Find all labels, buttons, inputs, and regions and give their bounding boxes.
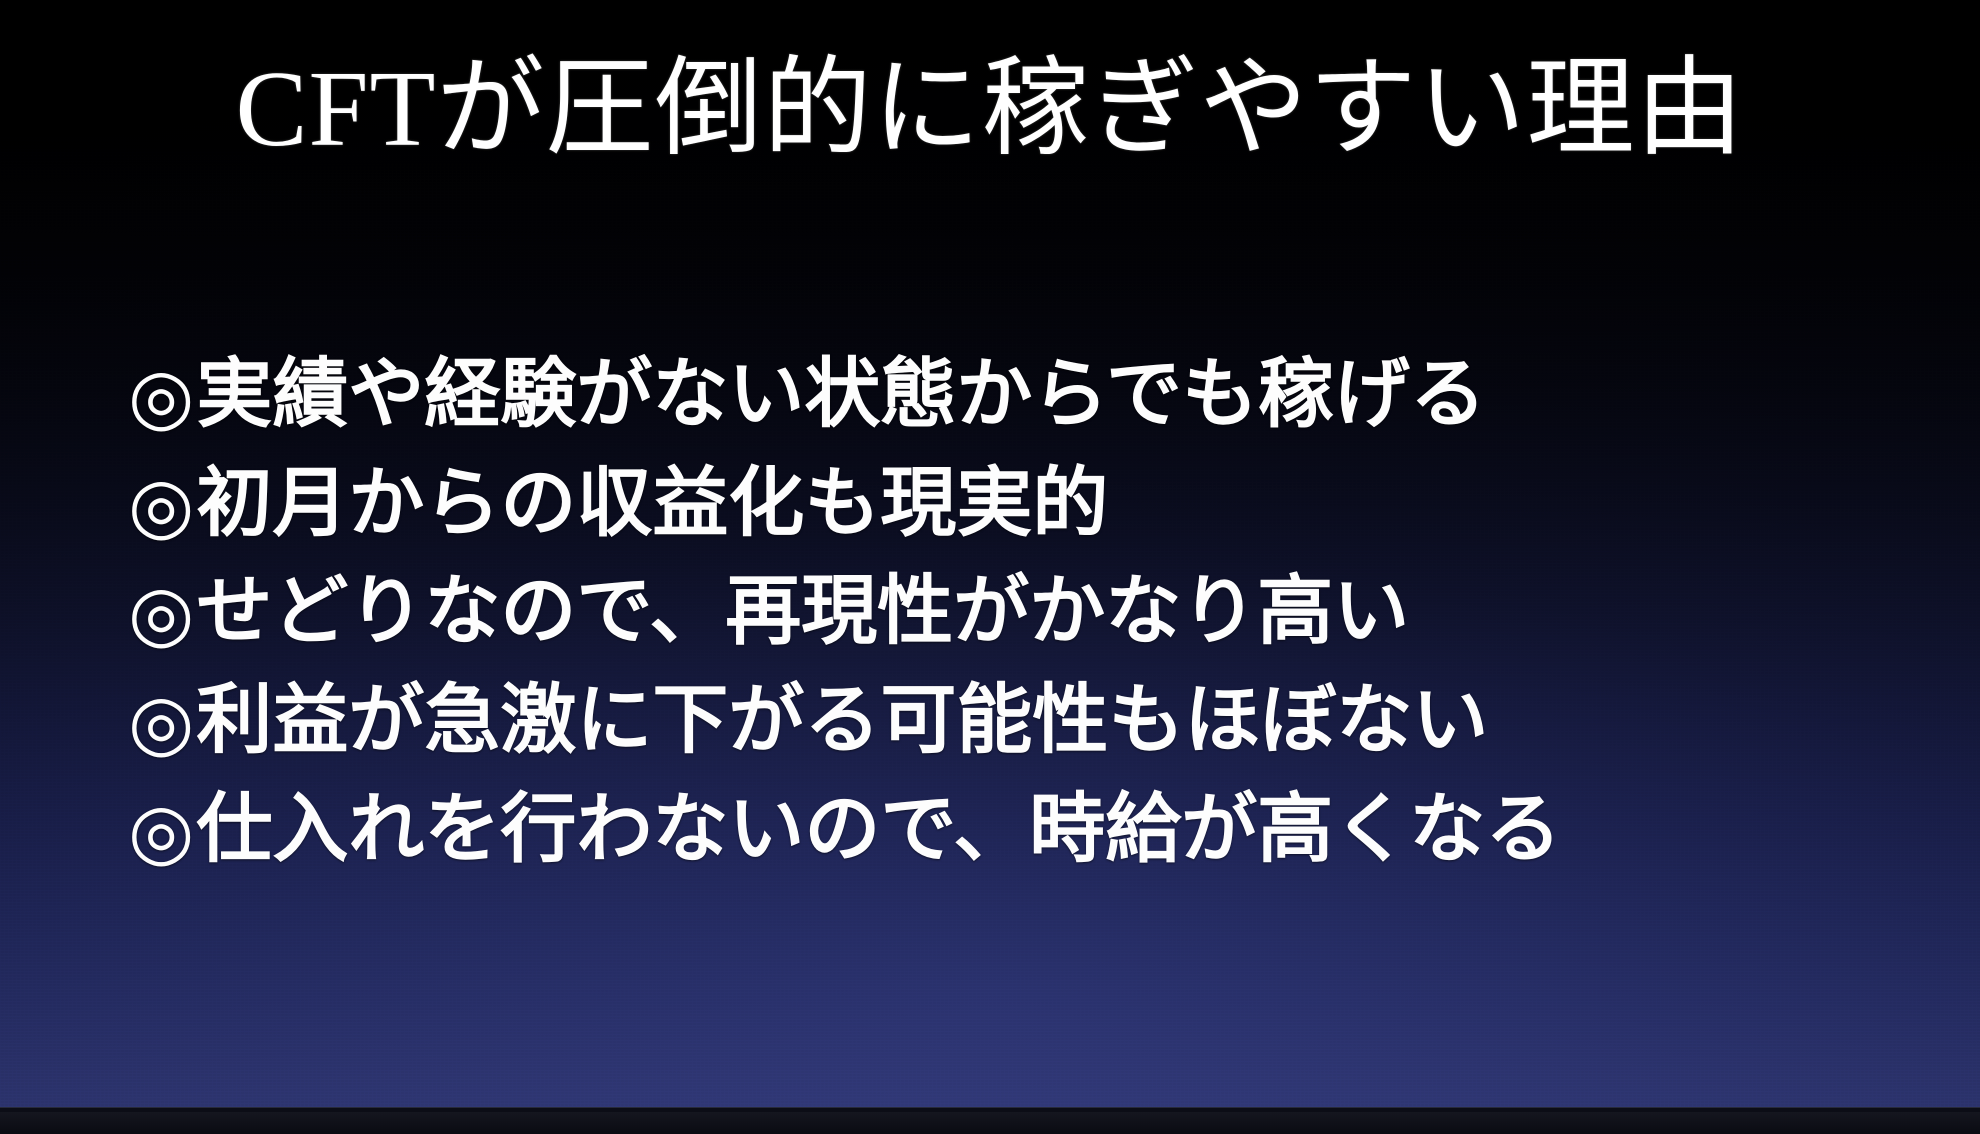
slide-content: CFTが圧倒的に稼ぎやすい理由 ◎ 実績や経験がない状態からでも稼げる ◎ 初月… bbox=[0, 0, 1980, 1134]
bullet-item: ◎ 仕入れを行わないので、時給が高くなる bbox=[128, 783, 1920, 876]
bullet-item-label: 実績や経験がない状態からでも稼げる bbox=[196, 348, 1486, 441]
bullseye-icon: ◎ bbox=[128, 575, 194, 651]
bullet-item: ◎ 利益が急激に下がる可能性もほぼない bbox=[128, 674, 1920, 767]
bullet-list: ◎ 実績や経験がない状態からでも稼げる ◎ 初月からの収益化も現実的 ◎ せどり… bbox=[128, 348, 1920, 892]
bullet-item: ◎ 実績や経験がない状態からでも稼げる bbox=[128, 348, 1920, 441]
presentation-slide: CFTが圧倒的に稼ぎやすい理由 ◎ 実績や経験がない状態からでも稼げる ◎ 初月… bbox=[0, 0, 1980, 1134]
bullet-item: ◎ せどりなので、再現性がかなり高い bbox=[128, 565, 1920, 658]
bullet-item-label: 仕入れを行わないので、時給が高くなる bbox=[196, 783, 1561, 876]
bullet-item-label: せどりなので、再現性がかなり高い bbox=[196, 565, 1409, 658]
bullet-item: ◎ 初月からの収益化も現実的 bbox=[128, 457, 1920, 550]
bottom-strip bbox=[0, 1107, 1980, 1134]
bullet-item-label: 初月からの収益化も現実的 bbox=[196, 457, 1108, 550]
bottom-strip-inner bbox=[0, 1112, 1980, 1134]
slide-title: CFTが圧倒的に稼ぎやすい理由 bbox=[0, 52, 1980, 169]
bullseye-icon: ◎ bbox=[128, 467, 194, 543]
bullseye-icon: ◎ bbox=[128, 358, 194, 434]
bullseye-icon: ◎ bbox=[128, 684, 194, 760]
bullseye-icon: ◎ bbox=[128, 793, 194, 869]
bullet-item-label: 利益が急激に下がる可能性もほぼない bbox=[196, 674, 1488, 767]
